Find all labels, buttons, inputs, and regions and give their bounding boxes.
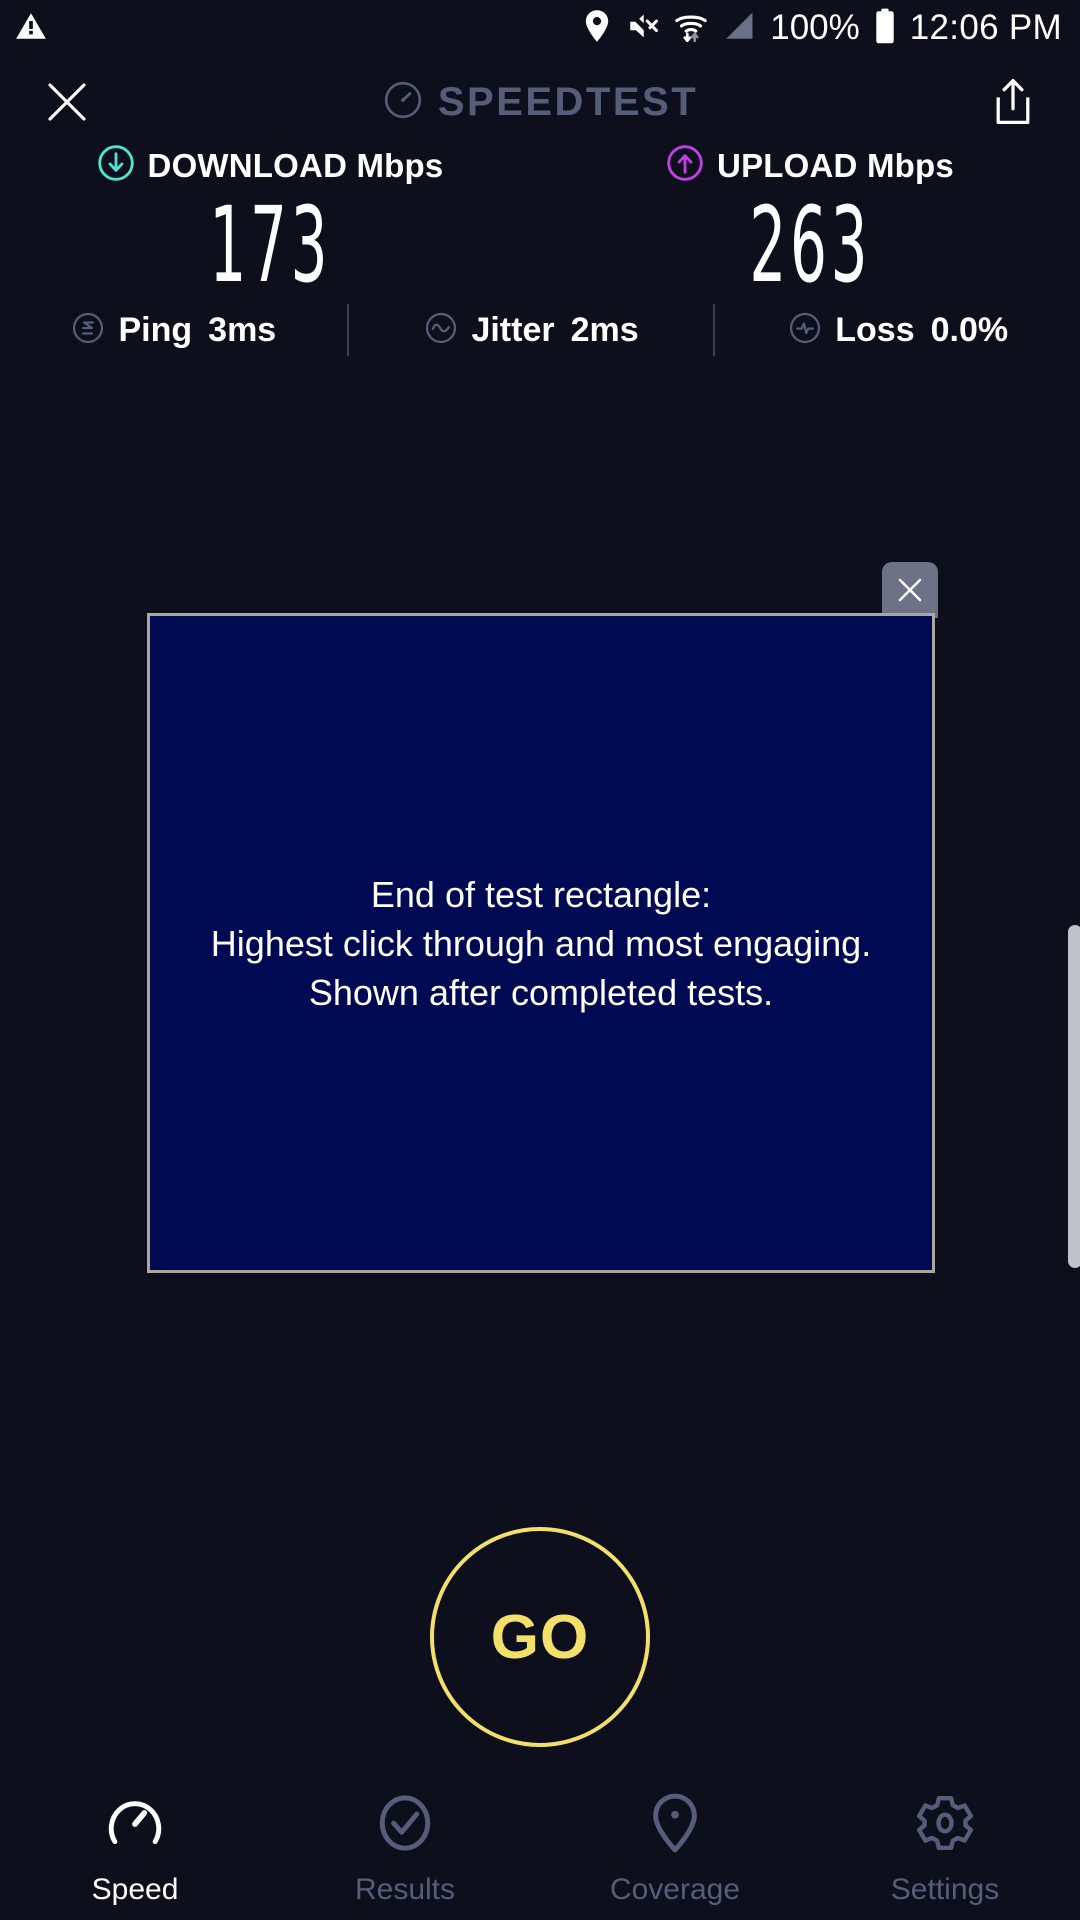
metric-ping: Ping 3ms (0, 310, 347, 351)
network-metrics-row: Ping 3ms Jitter 2ms Loss 0.0 (0, 300, 1080, 360)
speedometer-icon (382, 79, 424, 126)
metric-loss-value: 0.0% (931, 311, 1009, 350)
gear-icon (914, 1792, 976, 1859)
download-label: DOWNLOAD Mbps (148, 147, 444, 185)
metric-loss-label: Loss (835, 311, 914, 350)
status-bar-clock: 12:06 PM (910, 8, 1062, 48)
location-pin-icon (582, 9, 612, 48)
nav-item-settings-label: Settings (891, 1873, 999, 1907)
ping-icon (70, 310, 106, 351)
download-label-line: DOWNLOAD Mbps (97, 144, 444, 187)
loss-icon (787, 310, 823, 351)
nav-item-speed-label: Speed (92, 1873, 179, 1907)
go-button[interactable]: GO (430, 1527, 650, 1747)
download-arrow-icon (97, 144, 135, 187)
status-bar-left (14, 9, 48, 48)
app-header: SPEEDTEST (0, 60, 1080, 144)
metric-jitter: Jitter 2ms (349, 310, 714, 351)
brand-logo: SPEEDTEST (382, 79, 698, 126)
nav-item-coverage[interactable]: Coverage (540, 1792, 810, 1907)
upload-arrow-icon (666, 144, 704, 187)
status-bar: 100% 12:06 PM (0, 0, 1080, 56)
nav-item-coverage-label: Coverage (610, 1873, 740, 1907)
ad-text: End of test rectangle: Highest click thr… (195, 870, 887, 1017)
brand-title: SPEEDTEST (438, 80, 698, 125)
nav-item-speed[interactable]: Speed (0, 1792, 270, 1907)
download-result: DOWNLOAD Mbps 173 (0, 144, 540, 295)
status-bar-right: 100% 12:06 PM (582, 8, 1062, 49)
upload-label: UPLOAD Mbps (717, 147, 954, 185)
metric-loss: Loss 0.0% (715, 310, 1080, 351)
go-button-label: GO (491, 1602, 589, 1673)
upload-result: UPLOAD Mbps 263 (540, 144, 1080, 295)
upload-value: 263 (749, 195, 871, 295)
speedtest-app-screen: 100% 12:06 PM S (0, 0, 1080, 1920)
nav-item-settings[interactable]: Settings (810, 1792, 1080, 1907)
nav-item-results[interactable]: Results (270, 1792, 540, 1907)
ad-banner[interactable]: End of test rectangle: Highest click thr… (147, 613, 935, 1273)
share-icon (989, 77, 1037, 127)
upload-value-wrap: 263 (712, 187, 909, 295)
battery-full-icon (874, 8, 896, 49)
download-value: 173 (209, 195, 331, 295)
download-upload-row: DOWNLOAD Mbps 173 (0, 144, 1080, 295)
metric-jitter-label: Jitter (471, 311, 554, 350)
metric-ping-value: 3ms (208, 311, 276, 350)
ad-close-button[interactable] (882, 562, 938, 618)
metric-ping-label: Ping (118, 311, 192, 350)
warning-triangle-icon (14, 9, 48, 48)
volume-mute-icon (626, 9, 660, 48)
upload-label-line: UPLOAD Mbps (666, 144, 954, 187)
page-scrollbar[interactable] (1068, 925, 1080, 1268)
nav-item-results-label: Results (355, 1873, 455, 1907)
wifi-transfer-icon (674, 9, 708, 48)
metric-jitter-value: 2ms (571, 311, 639, 350)
share-button[interactable] (982, 71, 1044, 133)
close-icon (43, 78, 91, 126)
download-value-wrap: 173 (172, 187, 369, 295)
speedometer-icon (104, 1792, 166, 1859)
results-panel: DOWNLOAD Mbps 173 (0, 144, 1080, 295)
close-icon (895, 575, 925, 605)
location-pin-icon (644, 1792, 706, 1859)
check-circle-icon (374, 1792, 436, 1859)
jitter-icon (423, 310, 459, 351)
bottom-navigation: Speed Results Coverage (0, 1780, 1080, 1920)
battery-percent-label: 100% (770, 8, 860, 48)
cellular-signal-icon (722, 9, 756, 48)
close-app-button[interactable] (36, 71, 98, 133)
